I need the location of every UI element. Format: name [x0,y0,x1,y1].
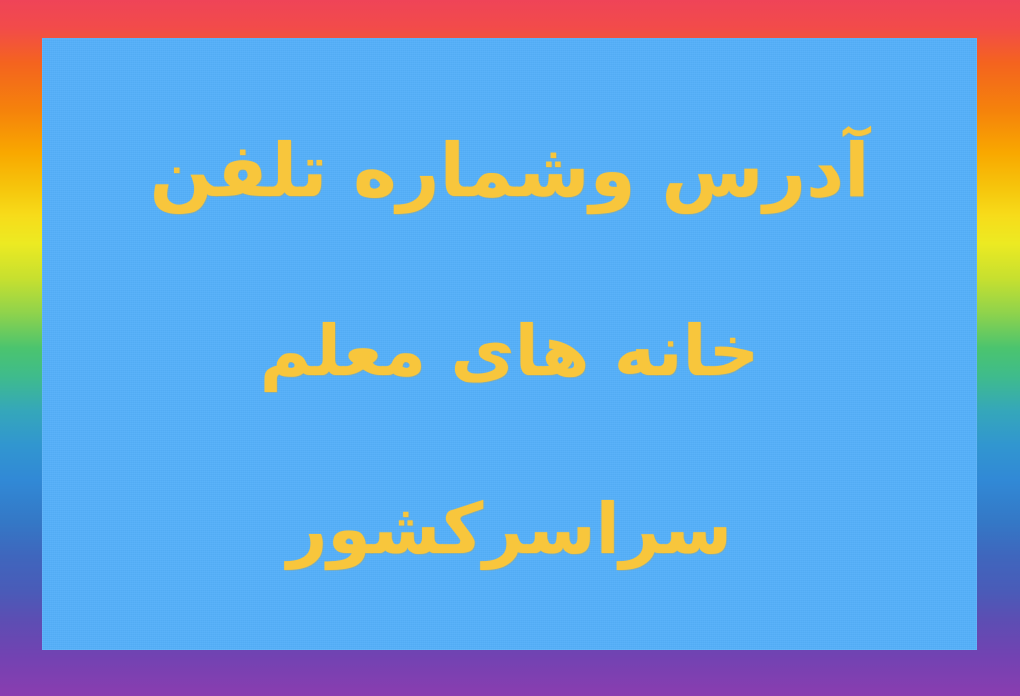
blue-content-panel: آدرس وشماره تلفن خانه های معلم سراسرکشور [42,38,977,650]
headline-line-3: سراسرکشور [287,494,732,564]
headline-line-2: خانه های معلم [260,316,760,386]
headline-line-1: آدرس وشماره تلفن [150,134,870,208]
headline-block: آدرس وشماره تلفن خانه های معلم سراسرکشور [42,134,977,564]
slide-canvas: آدرس وشماره تلفن خانه های معلم سراسرکشور [0,0,1020,696]
